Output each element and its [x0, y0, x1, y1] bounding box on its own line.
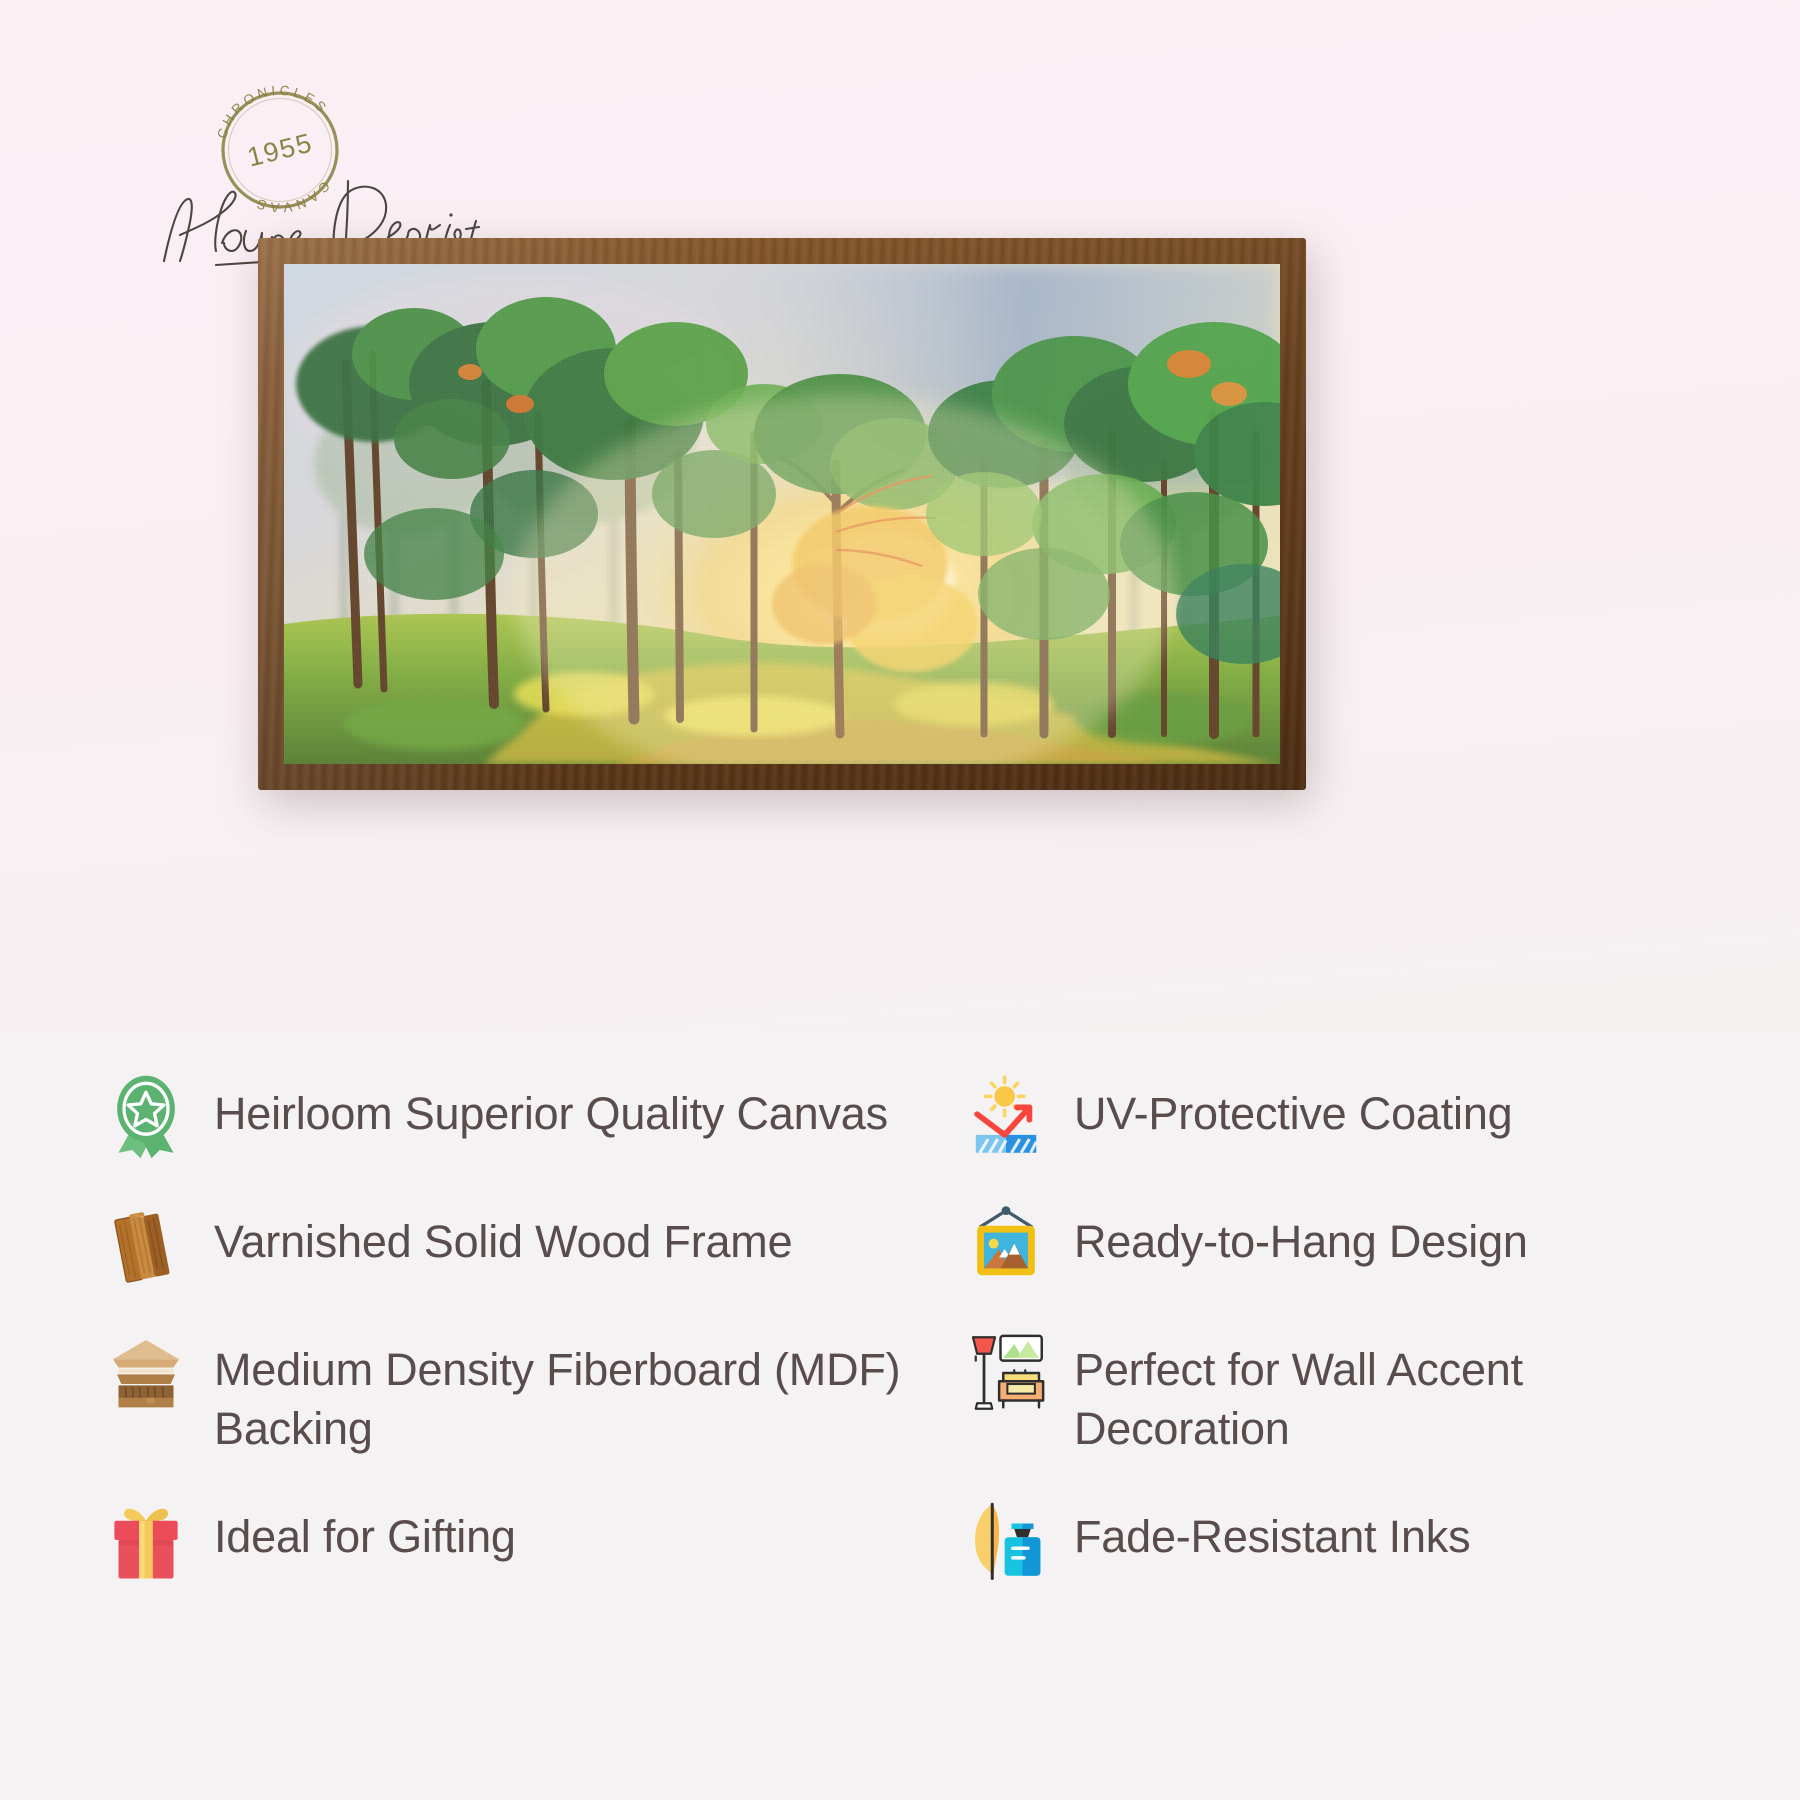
painting-canvas [284, 264, 1280, 764]
feature-label: Ideal for Gifting [214, 1494, 516, 1567]
feature-item: Varnished Solid Wood Frame [100, 1181, 960, 1309]
feature-label: Heirloom Superior Quality Canvas [214, 1071, 888, 1144]
svg-text:CHRONICLES: CHRONICLES [205, 70, 333, 143]
features-column-right: UV-Protective Coating [960, 1035, 1710, 1604]
living-room-decor-icon [960, 1327, 1052, 1419]
feature-item: Ready-to-Hang Design [960, 1181, 1710, 1309]
hero-section: CHRONICLES CANVAS 1955 [0, 0, 1800, 1035]
feature-label: Medium Density Fiberboard (MDF) Backing [214, 1327, 914, 1458]
features-column-left: Heirloom Superior Quality Canvas [100, 1035, 960, 1604]
feature-item: UV-Protective Coating [960, 1053, 1710, 1181]
feature-label: Perfect for Wall Accent Decoration [1074, 1327, 1674, 1458]
uv-shield-sun-icon [960, 1071, 1052, 1163]
gift-box-icon [100, 1494, 192, 1586]
feature-item: Heirloom Superior Quality Canvas [100, 1053, 960, 1181]
mdf-board-icon [100, 1327, 192, 1419]
feature-item: Perfect for Wall Accent Decoration [960, 1309, 1710, 1476]
feature-label: Varnished Solid Wood Frame [214, 1199, 792, 1272]
framed-artwork [258, 238, 1306, 790]
hanging-picture-frame-icon [960, 1199, 1052, 1291]
quill-ink-bottle-icon [960, 1494, 1052, 1586]
features-grid: Heirloom Superior Quality Canvas [100, 1035, 1710, 1800]
product-infographic: CHRONICLES CANVAS 1955 [0, 0, 1800, 1800]
feature-label: UV-Protective Coating [1074, 1071, 1513, 1144]
wood-planks-icon [100, 1199, 192, 1291]
feature-label: Fade-Resistant Inks [1074, 1494, 1470, 1567]
feature-item: Fade-Resistant Inks [960, 1476, 1710, 1604]
features-section: Heirloom Superior Quality Canvas [0, 1035, 1800, 1800]
feature-item: Medium Density Fiberboard (MDF) Backing [100, 1309, 960, 1476]
award-ribbon-icon [100, 1071, 192, 1163]
feature-label: Ready-to-Hang Design [1074, 1199, 1528, 1272]
feature-item: Ideal for Gifting [100, 1476, 960, 1604]
